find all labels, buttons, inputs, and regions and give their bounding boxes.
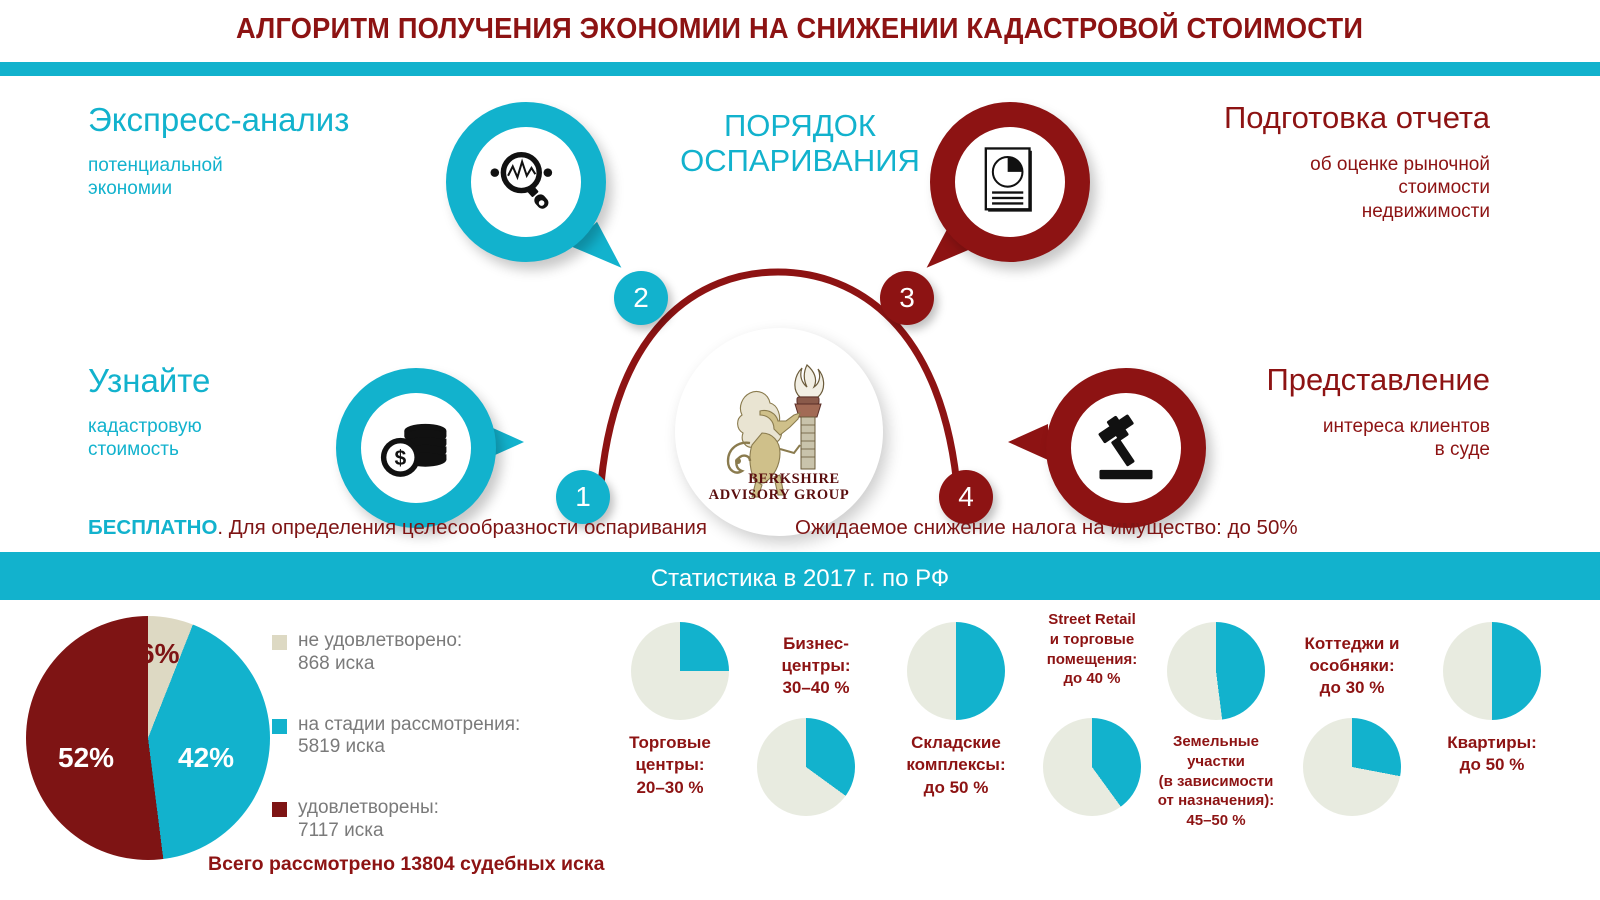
label-line: комплексы: <box>871 754 1041 776</box>
label-line: до 30 % <box>1267 677 1437 699</box>
trade-centers-pie <box>631 622 729 720</box>
note-free-highlight: БЕСПЛАТНО <box>88 516 217 539</box>
label-line: центры: <box>731 655 901 677</box>
label-line: центры: <box>585 754 755 776</box>
main-pie-legend: не удовлетворено: 868 иска на стадии рас… <box>272 630 602 881</box>
sub-line-1: потенциальной <box>88 155 223 176</box>
block-report-preparation: Подготовка отчета об оценке рыночной сто… <box>1090 102 1490 224</box>
legend-swatch <box>272 802 287 817</box>
note-free-service: БЕСПЛАТНО. Для определения целесообразно… <box>88 516 707 540</box>
label-line: от назначения): <box>1131 791 1301 811</box>
legend-label: удовлетворены: <box>298 797 439 818</box>
label-line: Street Retail <box>1007 610 1177 630</box>
sub-line-2: в суде <box>1435 439 1490 460</box>
label-line: Складские <box>871 732 1041 754</box>
main-pie-label-not-satisfied: 6% <box>139 638 179 670</box>
label-line: Квартиры: <box>1407 732 1577 754</box>
svg-text:$: $ <box>395 447 407 470</box>
land-plots-pie-label: Земельныеучастки(в зависимостиот назначе… <box>1131 732 1301 831</box>
cottages-pie-label: Коттеджи иособняки:до 30 % <box>1267 633 1437 700</box>
block-express-analysis-heading: Экспресс-анализ <box>88 103 428 138</box>
main-pie-label-in-review: 42% <box>178 742 234 774</box>
note-expected-tax-reduction: Ожидаемое снижение налога на имущество: … <box>795 516 1298 540</box>
sub-line-1: об оценке рыночной <box>1310 154 1490 175</box>
label-line: Бизнес- <box>731 633 901 655</box>
legend-item: удовлетворены: 7117 иска <box>272 797 602 843</box>
legend-swatch <box>272 635 287 650</box>
coins-dollar-icon: $ <box>361 393 471 503</box>
label-line: до 50 % <box>871 777 1041 799</box>
bubble-report-preparation <box>930 102 1090 262</box>
stats-banner-label: Статистика в 2017 г. по РФ <box>651 565 949 593</box>
label-line: 20–30 % <box>585 777 755 799</box>
block-express-analysis-sub: потенциальной экономии <box>88 154 428 202</box>
label-line: 45–50 % <box>1131 811 1301 831</box>
main-claims-pie: 6% 42% 52% <box>26 616 270 860</box>
label-line: особняки: <box>1267 655 1437 677</box>
legend-value: 5819 иска <box>298 736 385 757</box>
block-report-sub: об оценке рыночной стоимости недвижимост… <box>1090 153 1490 224</box>
magnifier-chart-icon <box>471 127 581 237</box>
label-line: и торговые <box>1007 630 1177 650</box>
bubble-tail <box>1008 424 1048 460</box>
legend-value: 7117 иска <box>298 820 384 841</box>
page-title-text: АЛГОРИТМ ПОЛУЧЕНИЯ ЭКОНОМИИ НА СНИЖЕНИИ … <box>236 13 1363 46</box>
step-3-label: 3 <box>899 282 915 314</box>
label-line: помещения: <box>1007 650 1177 670</box>
label-line: участки <box>1131 752 1301 772</box>
sub-line-2: стоимость <box>88 439 179 460</box>
legend-value: 868 иска <box>298 653 374 674</box>
legend-swatch <box>272 719 287 734</box>
logo-wordmark: BERKSHIRE ADVISORY GROUP <box>694 471 864 503</box>
label-line: (в зависимости <box>1131 772 1301 792</box>
step-2-label: 2 <box>633 282 649 314</box>
process-diagram: ПОРЯДОК ОСПАРИВАНИЯ Экспресс-анализ поте… <box>0 76 1600 552</box>
label-line: до 40 % <box>1007 669 1177 689</box>
warehouse-complexes-pie <box>907 622 1005 720</box>
legend-label: на стадии рассмотрения: <box>298 714 520 735</box>
label-line: Торговые <box>585 732 755 754</box>
block-express-analysis: Экспресс-анализ потенциальной экономии <box>88 103 428 201</box>
step-4-label: 4 <box>958 481 974 513</box>
report-document-icon <box>955 127 1065 237</box>
street-retail-pie-label: Street Retailи торговыепомещения:до 40 % <box>1007 610 1177 689</box>
company-logo: BERKSHIRE ADVISORY GROUP <box>675 328 883 536</box>
bubble-court-representation <box>1046 368 1206 528</box>
step-number-3: 3 <box>880 271 934 325</box>
gavel-icon <box>1071 393 1181 503</box>
warehouse-complexes-pie-label: Складскиекомплексы:до 50 % <box>871 732 1041 799</box>
bubble-cadastral-value: $ <box>336 368 496 528</box>
apartments-pie <box>1443 622 1541 720</box>
legend-label: не удовлетворено: <box>298 630 462 651</box>
bubble-express-analysis <box>446 102 606 262</box>
sub-line-1: кадастровую <box>88 416 202 437</box>
logo-line-2: ADVISORY GROUP <box>694 487 864 503</box>
label-line: 30–40 % <box>731 677 901 699</box>
label-line: Коттеджи и <box>1267 633 1437 655</box>
main-pie-label-satisfied: 52% <box>58 742 114 774</box>
statistics-section: 6% 42% 52% Всего рассмотрено 13804 судеб… <box>0 600 1600 900</box>
street-retail-pie <box>1043 718 1141 816</box>
legend-item: на стадии рассмотрения: 5819 иска <box>272 714 602 760</box>
trade-centers-pie-label: Торговыецентры:20–30 % <box>585 732 755 799</box>
sub-line-2: экономии <box>88 178 172 199</box>
sub-line-3: недвижимости <box>1362 201 1490 222</box>
page-title: АЛГОРИТМ ПОЛУЧЕНИЯ ЭКОНОМИИ НА СНИЖЕНИИ … <box>0 0 1600 58</box>
logo-line-1: BERKSHIRE <box>694 471 864 487</box>
stats-banner: Статистика в 2017 г. по РФ <box>0 558 1600 600</box>
legend-item: не удовлетворено: 868 иска <box>272 630 602 676</box>
step-number-2: 2 <box>614 271 668 325</box>
sub-line-2: стоимости <box>1398 177 1490 198</box>
cottages-pie <box>1303 718 1401 816</box>
sub-line-1: интереса клиентов <box>1323 416 1490 437</box>
business-centers-pie-label: Бизнес-центры:30–40 % <box>731 633 901 700</box>
step-1-label: 1 <box>575 481 591 513</box>
label-line: до 50 % <box>1407 754 1577 776</box>
apartments-pie-label: Квартиры:до 50 % <box>1407 732 1577 777</box>
business-centers-pie <box>757 718 855 816</box>
header-divider <box>0 62 1600 76</box>
label-line: Земельные <box>1131 732 1301 752</box>
note-free-rest: . Для определения целесообразности оспар… <box>217 516 707 539</box>
land-plots-pie <box>1167 622 1265 720</box>
block-report-heading: Подготовка отчета <box>1090 102 1490 135</box>
